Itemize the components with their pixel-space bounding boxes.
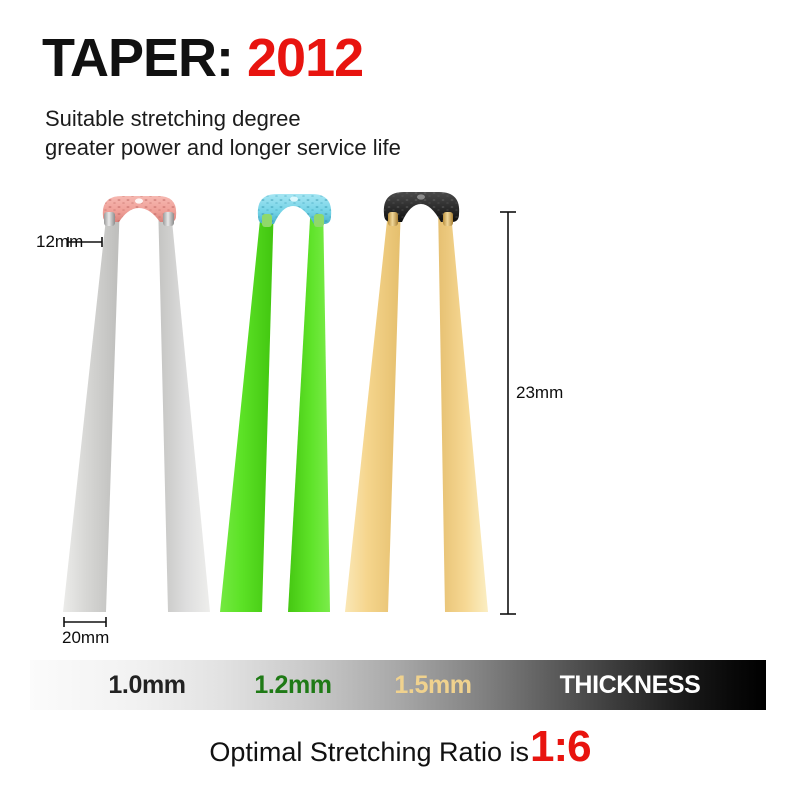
strap-clip-left	[104, 212, 115, 226]
dimension-label-width-top: 12mm	[36, 232, 83, 252]
band-set-amber	[345, 192, 488, 612]
pouch-hole	[135, 198, 143, 203]
strap-clip-right	[443, 212, 453, 226]
band-strap-right	[288, 200, 330, 612]
band-strap-left	[63, 200, 120, 612]
thickness-label-1-0mm: 1.0mm	[92, 660, 202, 710]
band-strap-right	[158, 200, 210, 612]
strap-clip-right	[163, 212, 174, 226]
dimension-20mm	[64, 617, 106, 627]
dimension-label-width-bottom: 20mm	[62, 628, 109, 648]
strap-clip-right	[314, 214, 324, 227]
product-illustration	[0, 170, 800, 640]
dimension-23mm	[500, 212, 516, 614]
stretching-ratio-value: 1:6	[530, 722, 591, 771]
infographic-canvas: TAPER: 2012 Suitable stretching degree g…	[0, 0, 800, 800]
pouch-hole	[290, 196, 298, 201]
strap-clip-left	[262, 214, 272, 227]
subtitle-line-2: greater power and longer service life	[45, 133, 401, 162]
strap-clip-left	[388, 212, 398, 226]
band-strap-left	[220, 200, 274, 612]
thickness-scale-bar: 1.0mm 1.2mm 1.5mm THICKNESS	[30, 660, 766, 710]
thickness-label-1-5mm: 1.5mm	[378, 660, 488, 710]
stretching-ratio-line: Optimal Stretching Ratio is1:6	[0, 722, 800, 772]
dimension-label-length: 23mm	[516, 383, 563, 403]
page-title-main: TAPER:	[42, 28, 233, 88]
thickness-label-1-2mm: 1.2mm	[238, 660, 348, 710]
band-strap-right	[438, 202, 488, 612]
band-set-white	[63, 196, 210, 612]
thickness-legend-title: THICKNESS	[520, 660, 740, 710]
pouch-hole	[417, 194, 425, 199]
stretching-ratio-text: Optimal Stretching Ratio is	[209, 737, 529, 767]
subtitle-block: Suitable stretching degree greater power…	[45, 104, 401, 162]
page-title: TAPER: 2012	[42, 30, 363, 87]
page-title-accent: 2012	[247, 28, 363, 88]
subtitle-line-1: Suitable stretching degree	[45, 104, 401, 133]
band-set-green	[220, 194, 331, 612]
band-strap-left	[345, 202, 401, 612]
